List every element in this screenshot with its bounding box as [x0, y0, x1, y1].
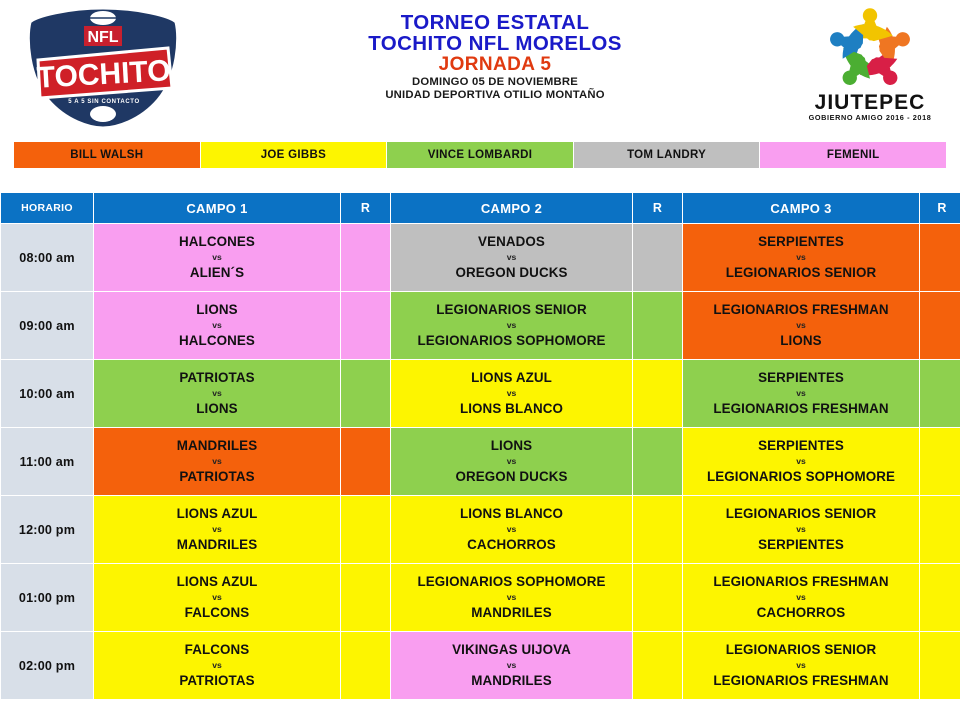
matchup: LEGIONARIOS FRESHMANvsLIONS: [683, 301, 919, 350]
svg-text:NFL: NFL: [87, 29, 118, 46]
home-team: LIONS AZUL: [177, 575, 258, 589]
page-header: NFL TOCHITO 5 A 5 SIN CONTACTO TORNEO ES…: [0, 0, 960, 132]
title-block: TORNEO ESTATAL TOCHITO NFL MORELOS JORNA…: [300, 12, 690, 102]
away-team: LEGIONARIOS FRESHMAN: [713, 402, 888, 416]
vs-label: vs: [507, 661, 517, 670]
legend-item[interactable]: JOE GIBBS: [201, 142, 388, 168]
vs-label: vs: [796, 389, 806, 398]
matchup: LIONS AZULvsLIONS BLANCO: [391, 369, 632, 418]
home-team: LEGIONARIOS SOPHOMORE: [417, 575, 605, 589]
vs-label: vs: [212, 457, 222, 466]
home-team: LEGIONARIOS SENIOR: [726, 643, 877, 657]
vs-label: vs: [507, 525, 517, 534]
home-team: LIONS AZUL: [471, 371, 552, 385]
away-team: LIONS: [780, 334, 821, 348]
time-cell: 11:00 am: [1, 428, 94, 496]
column-header-r-3: R: [920, 193, 960, 224]
away-team: FALCONS: [185, 606, 250, 620]
result-cell-campo3[interactable]: [920, 428, 960, 496]
jiutepec-logo: JIUTEPEC GOBIERNO AMIGO 2016 - 2018: [794, 4, 946, 128]
time-cell: 09:00 am: [1, 292, 94, 360]
away-team: SERPIENTES: [758, 538, 844, 552]
away-team: MANDRILES: [177, 538, 258, 552]
vs-label: vs: [796, 593, 806, 602]
match-cell-campo1[interactable]: LIONS AZULvsFALCONS: [94, 564, 341, 632]
match-cell-campo3[interactable]: LEGIONARIOS FRESHMANvsCACHORROS: [683, 564, 920, 632]
match-cell-campo1[interactable]: MANDRILESvsPATRIOTAS: [94, 428, 341, 496]
result-cell-campo2[interactable]: [633, 632, 683, 700]
match-cell-campo1[interactable]: HALCONESvsALIEN´S: [94, 224, 341, 292]
matchup: LIONSvsHALCONES: [94, 301, 340, 350]
table-row: 12:00 pmLIONS AZULvsMANDRILESLIONS BLANC…: [1, 496, 960, 564]
result-cell-campo2[interactable]: [633, 292, 683, 360]
event-date: DOMINGO 05 DE NOVIEMBRE: [300, 76, 690, 89]
match-cell-campo2[interactable]: LEGIONARIOS SOPHOMOREvsMANDRILES: [391, 564, 633, 632]
vs-label: vs: [507, 457, 517, 466]
match-cell-campo3[interactable]: LEGIONARIOS FRESHMANvsLIONS: [683, 292, 920, 360]
result-cell-campo3[interactable]: [920, 360, 960, 428]
away-team: LEGIONARIOS SOPHOMORE: [707, 470, 895, 484]
away-team: LIONS: [196, 402, 237, 416]
home-team: MANDRILES: [177, 439, 258, 453]
result-cell-campo2[interactable]: [633, 496, 683, 564]
away-team: PATRIOTAS: [179, 470, 254, 484]
vs-label: vs: [212, 593, 222, 602]
schedule-body: 08:00 amHALCONESvsALIEN´SVENADOSvsOREGON…: [1, 224, 960, 700]
result-cell-campo1[interactable]: [341, 564, 391, 632]
result-cell-campo2[interactable]: [633, 564, 683, 632]
title-line-1: TORNEO ESTATAL: [300, 12, 690, 33]
legend-item[interactable]: TOM LANDRY: [574, 142, 761, 168]
match-cell-campo2[interactable]: VENADOSvsOREGON DUCKS: [391, 224, 633, 292]
home-team: PATRIOTAS: [179, 371, 254, 385]
result-cell-campo3[interactable]: [920, 496, 960, 564]
table-row: 10:00 amPATRIOTASvsLIONSLIONS AZULvsLION…: [1, 360, 960, 428]
jiutepec-tagline: GOBIERNO AMIGO 2016 - 2018: [794, 113, 946, 122]
matchup: LIONS AZULvsFALCONS: [94, 573, 340, 622]
vs-label: vs: [212, 321, 222, 330]
matchup: SERPIENTESvsLEGIONARIOS SOPHOMORE: [683, 437, 919, 486]
legend-item[interactable]: FEMENIL: [760, 142, 946, 168]
svg-text:5 A 5 SIN CONTACTO: 5 A 5 SIN CONTACTO: [68, 99, 139, 105]
result-cell-campo3[interactable]: [920, 564, 960, 632]
result-cell-campo2[interactable]: [633, 360, 683, 428]
matchup: LEGIONARIOS FRESHMANvsCACHORROS: [683, 573, 919, 622]
time-cell: 10:00 am: [1, 360, 94, 428]
away-team: PATRIOTAS: [179, 674, 254, 688]
vs-label: vs: [212, 253, 222, 262]
column-header-campo-3: CAMPO 3: [683, 193, 920, 224]
time-cell: 02:00 pm: [1, 632, 94, 700]
home-team: LIONS BLANCO: [460, 507, 563, 521]
match-cell-campo3[interactable]: SERPIENTESvsLEGIONARIOS SOPHOMORE: [683, 428, 920, 496]
tournament-schedule-page: NFL TOCHITO 5 A 5 SIN CONTACTO TORNEO ES…: [0, 0, 960, 720]
home-team: LEGIONARIOS FRESHMAN: [713, 575, 888, 589]
match-cell-campo1[interactable]: PATRIOTASvsLIONS: [94, 360, 341, 428]
legend-item[interactable]: VINCE LOMBARDI: [387, 142, 574, 168]
matchup: LEGIONARIOS SOPHOMOREvsMANDRILES: [391, 573, 632, 622]
matchup: LIONS BLANCOvsCACHORROS: [391, 505, 632, 554]
matchup: MANDRILESvsPATRIOTAS: [94, 437, 340, 486]
home-team: SERPIENTES: [758, 371, 844, 385]
match-cell-campo1[interactable]: LIONS AZULvsMANDRILES: [94, 496, 341, 564]
match-cell-campo2[interactable]: LEGIONARIOS SENIORvsLEGIONARIOS SOPHOMOR…: [391, 292, 633, 360]
home-team: LIONS: [491, 439, 532, 453]
vs-label: vs: [796, 457, 806, 466]
schedule-table: HORARIO CAMPO 1 R CAMPO 2 R CAMPO 3 R 08…: [0, 192, 960, 700]
away-team: OREGON DUCKS: [455, 266, 567, 280]
home-team: LEGIONARIOS SENIOR: [436, 303, 587, 317]
match-cell-campo3[interactable]: LEGIONARIOS SENIORvsLEGIONARIOS FRESHMAN: [683, 632, 920, 700]
jiutepec-star-icon: [811, 4, 929, 92]
home-team: LIONS AZUL: [177, 507, 258, 521]
result-cell-campo2[interactable]: [633, 428, 683, 496]
vs-label: vs: [507, 321, 517, 330]
table-row: 08:00 amHALCONESvsALIEN´SVENADOSvsOREGON…: [1, 224, 960, 292]
home-team: FALCONS: [185, 643, 250, 657]
result-cell-campo1[interactable]: [341, 292, 391, 360]
column-header-campo-1: CAMPO 1: [94, 193, 341, 224]
home-team: LIONS: [196, 303, 237, 317]
column-header-r-1: R: [341, 193, 391, 224]
match-cell-campo3[interactable]: LEGIONARIOS SENIORvsSERPIENTES: [683, 496, 920, 564]
matchup: VIKINGAS UIJOVAvsMANDRILES: [391, 641, 632, 690]
result-cell-campo2[interactable]: [633, 224, 683, 292]
column-header-r-2: R: [633, 193, 683, 224]
event-venue: UNIDAD DEPORTIVA OTILIO MONTAÑO: [300, 89, 690, 102]
legend-item[interactable]: BILL WALSH: [14, 142, 201, 168]
away-team: HALCONES: [179, 334, 255, 348]
home-team: LEGIONARIOS FRESHMAN: [713, 303, 888, 317]
jiutepec-wordmark: JIUTEPEC: [794, 93, 946, 113]
vs-label: vs: [796, 525, 806, 534]
match-cell-campo1[interactable]: FALCONSvsPATRIOTAS: [94, 632, 341, 700]
away-team: ALIEN´S: [190, 266, 244, 280]
matchup: PATRIOTASvsLIONS: [94, 369, 340, 418]
matchup: VENADOSvsOREGON DUCKS: [391, 233, 632, 282]
vs-label: vs: [212, 525, 222, 534]
away-team: MANDRILES: [471, 606, 552, 620]
result-cell-campo1[interactable]: [341, 428, 391, 496]
time-cell: 01:00 pm: [1, 564, 94, 632]
column-header-horario: HORARIO: [1, 193, 94, 224]
time-cell: 08:00 am: [1, 224, 94, 292]
result-cell-campo1[interactable]: [341, 224, 391, 292]
tochito-nfl-logo: NFL TOCHITO 5 A 5 SIN CONTACTO: [18, 4, 188, 130]
away-team: CACHORROS: [757, 606, 846, 620]
title-line-2: TOCHITO NFL MORELOS: [300, 33, 690, 54]
match-cell-campo3[interactable]: SERPIENTESvsLEGIONARIOS SENIOR: [683, 224, 920, 292]
away-team: LEGIONARIOS SOPHOMORE: [417, 334, 605, 348]
matchup: LEGIONARIOS SENIORvsSERPIENTES: [683, 505, 919, 554]
away-team: CACHORROS: [467, 538, 556, 552]
vs-label: vs: [796, 321, 806, 330]
away-team: MANDRILES: [471, 674, 552, 688]
home-team: SERPIENTES: [758, 439, 844, 453]
vs-label: vs: [507, 389, 517, 398]
away-team: LEGIONARIOS SENIOR: [726, 266, 877, 280]
home-team: VIKINGAS UIJOVA: [452, 643, 571, 657]
vs-label: vs: [212, 389, 222, 398]
vs-label: vs: [796, 253, 806, 262]
matchup: HALCONESvsALIEN´S: [94, 233, 340, 282]
match-cell-campo2[interactable]: VIKINGAS UIJOVAvsMANDRILES: [391, 632, 633, 700]
result-cell-campo3[interactable]: [920, 224, 960, 292]
match-cell-campo2[interactable]: LIONSvsOREGON DUCKS: [391, 428, 633, 496]
table-row: 02:00 pmFALCONSvsPATRIOTASVIKINGAS UIJOV…: [1, 632, 960, 700]
home-team: LEGIONARIOS SENIOR: [726, 507, 877, 521]
vs-label: vs: [507, 593, 517, 602]
result-cell-campo3[interactable]: [920, 632, 960, 700]
column-header-campo-2: CAMPO 2: [391, 193, 633, 224]
result-cell-campo1[interactable]: [341, 360, 391, 428]
table-row: 11:00 amMANDRILESvsPATRIOTASLIONSvsOREGO…: [1, 428, 960, 496]
time-cell: 12:00 pm: [1, 496, 94, 564]
table-row: 09:00 amLIONSvsHALCONESLEGIONARIOS SENIO…: [1, 292, 960, 360]
matchup: SERPIENTESvsLEGIONARIOS FRESHMAN: [683, 369, 919, 418]
matchup: LEGIONARIOS SENIORvsLEGIONARIOS FRESHMAN: [683, 641, 919, 690]
vs-label: vs: [212, 661, 222, 670]
home-team: SERPIENTES: [758, 235, 844, 249]
away-team: OREGON DUCKS: [455, 470, 567, 484]
vs-label: vs: [796, 661, 806, 670]
matchup: SERPIENTESvsLEGIONARIOS SENIOR: [683, 233, 919, 282]
away-team: LIONS BLANCO: [460, 402, 563, 416]
home-team: HALCONES: [179, 235, 255, 249]
result-cell-campo3[interactable]: [920, 292, 960, 360]
matchup: LEGIONARIOS SENIORvsLEGIONARIOS SOPHOMOR…: [391, 301, 632, 350]
jornada-label: JORNADA 5: [300, 54, 690, 76]
match-cell-campo1[interactable]: LIONSvsHALCONES: [94, 292, 341, 360]
match-cell-campo2[interactable]: LIONS BLANCOvsCACHORROS: [391, 496, 633, 564]
match-cell-campo2[interactable]: LIONS AZULvsLIONS BLANCO: [391, 360, 633, 428]
home-team: VENADOS: [478, 235, 545, 249]
result-cell-campo1[interactable]: [341, 632, 391, 700]
table-header-row: HORARIO CAMPO 1 R CAMPO 2 R CAMPO 3 R: [1, 193, 960, 224]
result-cell-campo1[interactable]: [341, 496, 391, 564]
matchup: LIONSvsOREGON DUCKS: [391, 437, 632, 486]
away-team: LEGIONARIOS FRESHMAN: [713, 674, 888, 688]
category-legend: BILL WALSHJOE GIBBSVINCE LOMBARDITOM LAN…: [14, 142, 946, 168]
matchup: FALCONSvsPATRIOTAS: [94, 641, 340, 690]
table-row: 01:00 pmLIONS AZULvsFALCONSLEGIONARIOS S…: [1, 564, 960, 632]
vs-label: vs: [507, 253, 517, 262]
match-cell-campo3[interactable]: SERPIENTESvsLEGIONARIOS FRESHMAN: [683, 360, 920, 428]
matchup: LIONS AZULvsMANDRILES: [94, 505, 340, 554]
